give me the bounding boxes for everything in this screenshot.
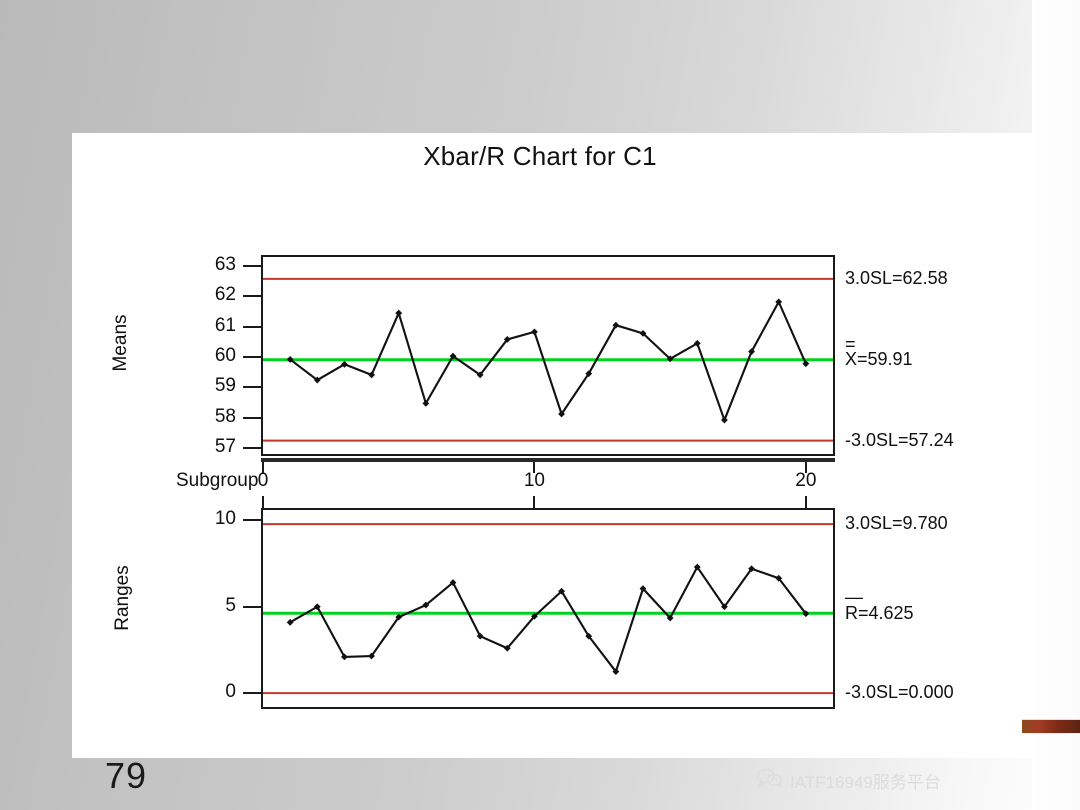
xbar-center-line-label-text: X=59.91 bbox=[845, 349, 913, 369]
range-y-tick-label: 0 bbox=[166, 681, 236, 703]
xbar-upper-limit-label: 3.0SL=62.58 bbox=[845, 269, 948, 288]
range-y-tick-mark bbox=[243, 519, 261, 521]
xbar-y-tick-label: 58 bbox=[166, 406, 236, 428]
subgroup-tick-label: 10 bbox=[494, 470, 574, 492]
panel-right-fade bbox=[1032, 0, 1080, 810]
xbar-y-tick-mark bbox=[243, 265, 261, 267]
range-center-line-label-text: R=4.625 bbox=[845, 603, 914, 623]
range-y-tick-label: 5 bbox=[166, 595, 236, 617]
subgroup-tick-mark-lower bbox=[805, 496, 807, 508]
chart-title: Xbar/R Chart for C1 bbox=[0, 141, 1080, 172]
xbar-y-tick-label: 60 bbox=[166, 345, 236, 367]
xbar-lower-limit-label: -3.0SL=57.24 bbox=[845, 431, 954, 450]
xbar-y-tick-mark bbox=[243, 417, 261, 419]
range-upper-limit-label: 3.0SL=9.780 bbox=[845, 514, 948, 533]
subgroup-tick-label: 0 bbox=[223, 470, 303, 492]
xbar-y-tick-label: 62 bbox=[166, 284, 236, 306]
slide-canvas: Xbar/R Chart for C1 Means 57585960616263… bbox=[0, 0, 1080, 810]
watermark: IATF16949服务平台 bbox=[757, 768, 941, 793]
xbar-y-tick-label: 59 bbox=[166, 375, 236, 397]
xbar-y-tick-mark bbox=[243, 326, 261, 328]
page-number: 79 bbox=[105, 755, 147, 797]
xbar-y-tick-mark bbox=[243, 295, 261, 297]
xbar-y-tick-mark bbox=[243, 386, 261, 388]
xbar-center-line-label: =X=59.91 bbox=[845, 338, 913, 369]
xbar-plot-box bbox=[261, 255, 835, 456]
xbar-y-tick-mark bbox=[243, 356, 261, 358]
subgroup-tick-label: 20 bbox=[766, 470, 846, 492]
xbar-y-axis-title: Means bbox=[110, 288, 136, 398]
xbar-y-tick-label: 63 bbox=[166, 254, 236, 276]
corner-accent-bar bbox=[1022, 719, 1080, 734]
range-center-line-label: —R=4.625 bbox=[845, 591, 914, 622]
watermark-text: IATF16949服务平台 bbox=[790, 768, 941, 793]
range-y-tick-mark bbox=[243, 606, 261, 608]
xbar-y-tick-mark bbox=[243, 447, 261, 449]
range-plot-box bbox=[261, 508, 835, 709]
subgroup-tick-mark-lower bbox=[262, 496, 264, 508]
range-y-axis-title: Ranges bbox=[112, 538, 138, 658]
xbar-y-tick-label: 57 bbox=[166, 436, 236, 458]
wechat-icon bbox=[757, 768, 783, 793]
range-y-tick-label: 10 bbox=[166, 508, 236, 530]
range-y-tick-mark bbox=[243, 692, 261, 694]
xbar-y-tick-label: 61 bbox=[166, 315, 236, 337]
subgroup-tick-mark-lower bbox=[533, 496, 535, 508]
range-plot-svg bbox=[263, 510, 833, 707]
xbar-plot-svg bbox=[263, 257, 833, 454]
range-lower-limit-label: -3.0SL=0.000 bbox=[845, 683, 954, 702]
xbar-axis-rule bbox=[261, 458, 835, 462]
